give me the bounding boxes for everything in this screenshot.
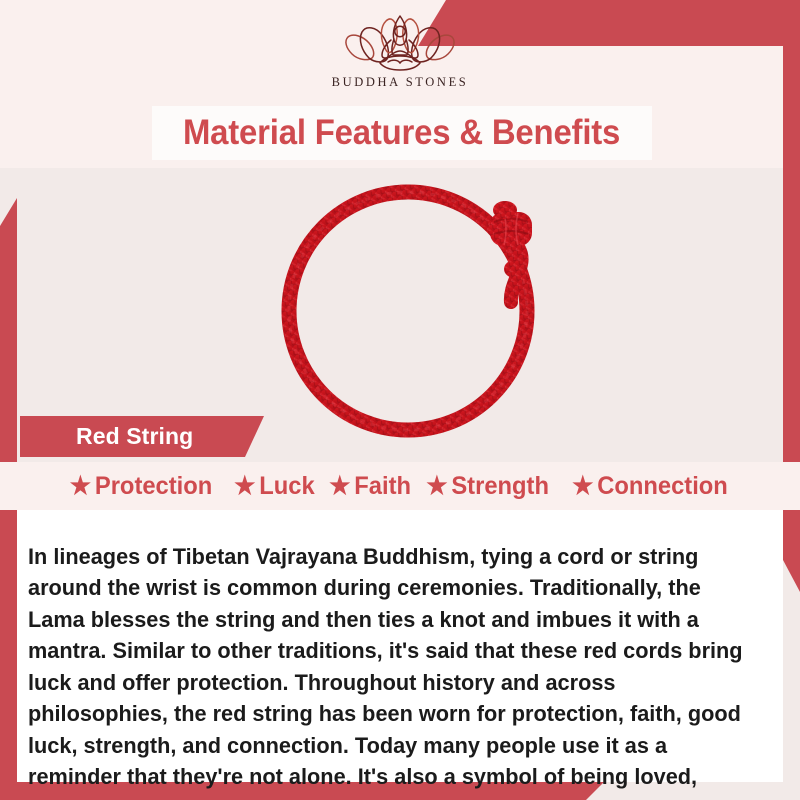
benefit-item-strength: ★ Strength [426,474,549,499]
benefit-label: Strength [451,474,549,499]
benefit-item-connection: ★ Connection [572,474,728,499]
star-icon: ★ [426,474,447,499]
product-image [262,172,562,440]
benefit-item-protection: ★ Protection [70,474,213,499]
infographic-canvas: BUDDHA STONES Material Features & Benefi… [0,0,800,800]
star-icon: ★ [70,474,91,499]
material-name-label: Red String [76,423,193,450]
benefit-label: Protection [95,474,212,499]
benefit-item-faith: ★ Faith [329,474,411,499]
star-icon: ★ [234,474,255,499]
benefit-label: Connection [597,474,728,499]
page-title: Material Features & Benefits [183,113,620,153]
star-icon: ★ [572,474,593,499]
benefit-item-luck: ★ Luck [234,474,315,499]
red-braided-cord-bracelet-icon [262,172,562,440]
benefits-row: ★ Protection ★ Luck ★ Faith ★ Strength ★… [0,462,800,510]
brand-logo: BUDDHA STONES [0,8,800,104]
star-icon: ★ [329,474,350,499]
title-band: Material Features & Benefits [152,106,652,160]
description-card: In lineages of Tibetan Vajrayana Buddhis… [17,510,783,782]
lotus-meditation-icon [336,8,464,74]
benefit-label: Luck [259,474,314,499]
material-name-banner: Red String [20,416,264,457]
benefit-label: Faith [354,474,411,499]
description-paragraph: In lineages of Tibetan Vajrayana Buddhis… [28,541,750,800]
brand-name: BUDDHA STONES [332,75,469,90]
